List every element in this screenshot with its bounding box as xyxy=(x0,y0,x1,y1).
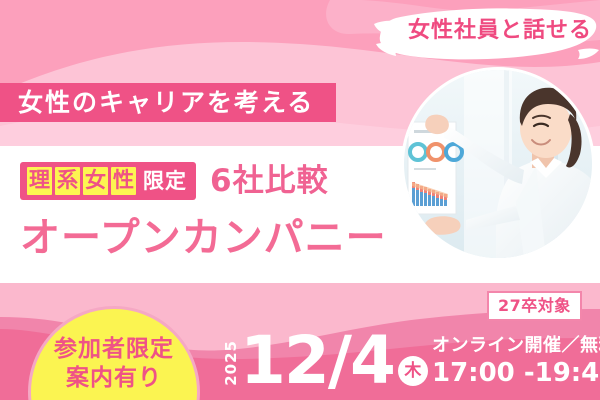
headline-band: 女性のキャリアを考える xyxy=(0,83,336,122)
event-info-block: オンライン開催／無料 17:00 -19:45 xyxy=(432,336,600,389)
presenter-photo-illustration xyxy=(404,70,592,258)
company-compare-label: 6社比較 xyxy=(210,166,329,197)
speak-with-employees-badge: 女性社員と話せる xyxy=(372,4,600,66)
event-weekday-label: 木 xyxy=(404,363,421,380)
graduate-year-label: 27卒対象 xyxy=(498,296,571,315)
event-date-block: 2025 12/4 木 xyxy=(224,330,428,392)
promo-banner: 女性社員と話せる 女性のキャリアを考える 理 系 女 性 限定 6社比較 オープ… xyxy=(0,0,600,400)
event-weekday-circle: 木 xyxy=(398,356,428,386)
event-month-day: 12/4 xyxy=(240,330,394,392)
eligibility-pill: 理 系 女 性 限定 xyxy=(20,162,196,200)
presenter-photo xyxy=(404,70,592,258)
eligibility-char-3: 女 xyxy=(83,167,108,195)
graduate-year-badge: 27卒対象 xyxy=(487,291,582,321)
speak-with-employees-label: 女性社員と話せる xyxy=(400,18,600,44)
event-time-label: 17:00 -19:45 xyxy=(432,359,600,389)
event-year: 2025 xyxy=(224,340,239,386)
eligibility-char-4: 性 xyxy=(111,167,136,195)
eligibility-char-2: 系 xyxy=(55,167,80,195)
eligibility-char-1: 理 xyxy=(27,167,52,195)
eligibility-suffix: 限定 xyxy=(143,171,187,192)
participant-only-line-2: 案内有り xyxy=(66,364,162,393)
headline-label: 女性のキャリアを考える xyxy=(18,90,314,115)
eligibility-row: 理 系 女 性 限定 6社比較 xyxy=(20,162,329,200)
event-title: オープンカンパニー xyxy=(20,218,387,258)
event-mode-label: オンライン開催／無料 xyxy=(432,336,600,357)
participant-only-line-1: 参加者限定 xyxy=(54,335,174,364)
